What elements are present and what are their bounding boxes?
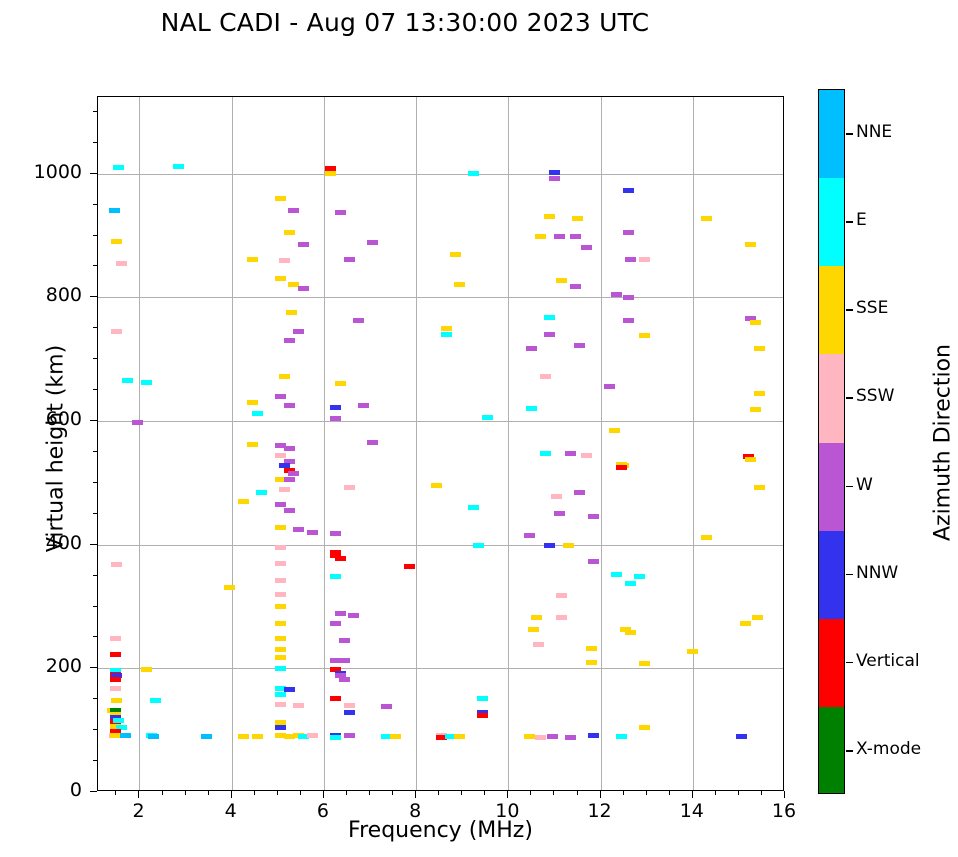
echo-mark: [275, 196, 286, 201]
figure-title: NAL CADI - Aug 07 13:30:00 2023 UTC: [0, 8, 810, 37]
gridline-horizontal: [98, 174, 783, 175]
echo-mark: [335, 381, 346, 386]
echo-mark: [533, 642, 544, 647]
echo-mark: [284, 338, 295, 343]
echo-mark: [330, 696, 341, 701]
echo-mark: [109, 208, 120, 213]
echo-mark: [454, 734, 465, 739]
colorbar-segment-sse: [819, 266, 844, 354]
echo-mark: [330, 416, 341, 421]
x-tick-minor: [185, 791, 186, 795]
x-tick-minor: [300, 791, 301, 795]
x-tick-major: [231, 791, 232, 798]
echo-mark: [275, 578, 286, 583]
echo-mark: [574, 343, 585, 348]
y-tick-minor: [93, 482, 97, 483]
colorbar-label-nnw: NNW: [856, 563, 898, 583]
echo-mark: [549, 170, 560, 175]
gridline-horizontal: [98, 297, 783, 298]
gridline-vertical: [232, 97, 233, 790]
echo-mark: [298, 242, 309, 247]
gridline-vertical: [693, 97, 694, 790]
echo-mark: [275, 647, 286, 652]
echo-mark: [275, 453, 286, 458]
echo-mark: [307, 530, 318, 535]
echo-mark: [298, 286, 309, 291]
echo-mark: [540, 374, 551, 379]
colorbar-tick: [846, 397, 853, 399]
echo-mark: [524, 734, 535, 739]
echo-mark: [586, 646, 597, 651]
echo-mark: [275, 655, 286, 660]
echo-mark: [293, 703, 304, 708]
x-tick-minor: [254, 791, 255, 795]
x-tick-minor: [392, 791, 393, 795]
echo-mark: [367, 440, 378, 445]
echo-mark: [113, 718, 124, 723]
echo-mark: [344, 710, 355, 715]
echo-mark: [275, 561, 286, 566]
echo-mark: [477, 696, 488, 701]
echo-mark: [551, 494, 562, 499]
colorbar-tick: [846, 574, 853, 576]
colorbar-tick: [846, 133, 853, 135]
echo-mark: [339, 658, 350, 663]
echo-mark: [687, 649, 698, 654]
echo-mark: [625, 630, 636, 635]
echo-mark: [110, 686, 121, 691]
gridline-horizontal: [98, 545, 783, 546]
y-tick-major: [90, 296, 97, 297]
gridline-horizontal: [98, 668, 783, 669]
echo-mark: [344, 257, 355, 262]
echo-mark: [390, 734, 401, 739]
echo-mark: [526, 346, 537, 351]
echo-mark: [279, 258, 290, 263]
echo-mark: [339, 638, 350, 643]
y-tick-minor: [93, 265, 97, 266]
echo-mark: [468, 505, 479, 510]
echo-mark: [348, 613, 359, 618]
y-tick-label: 0: [12, 779, 82, 801]
x-tick-major: [323, 791, 324, 798]
echo-mark: [639, 333, 650, 338]
echo-mark: [122, 378, 133, 383]
echo-mark: [441, 332, 452, 337]
echo-mark: [275, 592, 286, 597]
echo-mark: [381, 704, 392, 709]
gridline-vertical: [601, 97, 602, 790]
y-tick-minor: [93, 327, 97, 328]
x-tick-minor: [438, 791, 439, 795]
echo-mark: [524, 533, 535, 538]
y-tick-minor: [93, 575, 97, 576]
echo-mark: [609, 428, 620, 433]
y-tick-minor: [93, 389, 97, 390]
echo-mark: [556, 615, 567, 620]
colorbar-segment-e: [819, 178, 844, 266]
echo-mark: [335, 556, 346, 561]
echo-mark: [616, 465, 627, 470]
echo-mark: [565, 735, 576, 740]
echo-mark: [549, 176, 560, 181]
echo-mark: [574, 490, 585, 495]
echo-mark: [330, 531, 341, 536]
echo-mark: [275, 502, 286, 507]
echo-mark: [284, 403, 295, 408]
colorbar-label-e: E: [856, 210, 867, 230]
colorbar-label-x-mode: X-mode: [856, 739, 921, 759]
echo-mark: [468, 171, 479, 176]
y-tick-minor: [93, 636, 97, 637]
echo-mark: [275, 525, 286, 530]
echo-mark: [544, 214, 555, 219]
echo-mark: [556, 593, 567, 598]
echo-mark: [275, 604, 286, 609]
echo-mark: [344, 733, 355, 738]
echo-mark: [275, 636, 286, 641]
echo-mark: [284, 477, 295, 482]
colorbar-segment-x-mode: [819, 707, 844, 794]
echo-mark: [344, 485, 355, 490]
x-tick-minor: [553, 791, 554, 795]
y-tick-minor: [93, 358, 97, 359]
x-tick-minor: [208, 791, 209, 795]
echo-mark: [110, 677, 121, 682]
echo-mark: [544, 543, 555, 548]
echo-mark: [238, 734, 249, 739]
x-tick-minor: [530, 791, 531, 795]
y-tick-minor: [93, 235, 97, 236]
echo-mark: [275, 692, 286, 697]
echo-mark: [335, 611, 346, 616]
y-tick-minor: [93, 142, 97, 143]
echo-mark: [556, 278, 567, 283]
echo-mark: [330, 405, 341, 410]
echo-mark: [275, 666, 286, 671]
echo-mark: [238, 499, 249, 504]
echo-mark: [275, 621, 286, 626]
x-tick-minor: [484, 791, 485, 795]
colorbar-title: Azimuth Direction: [931, 293, 956, 593]
colorbar-tick: [846, 486, 853, 488]
echo-mark: [740, 621, 751, 626]
echo-mark: [554, 234, 565, 239]
echo-mark: [752, 615, 763, 620]
echo-mark: [750, 320, 761, 325]
colorbar-label-nne: NNE: [856, 122, 892, 142]
echo-mark: [148, 734, 159, 739]
x-tick-minor: [115, 791, 116, 795]
echo-mark: [482, 415, 493, 420]
echo-mark: [570, 284, 581, 289]
colorbar-tick: [846, 662, 853, 664]
plot-area: [97, 96, 784, 791]
echo-mark: [531, 615, 542, 620]
echo-mark: [701, 535, 712, 540]
ionogram-figure: NAL CADI - Aug 07 13:30:00 2023 UTC 2468…: [0, 0, 958, 857]
x-tick-minor: [577, 791, 578, 795]
echo-mark: [623, 295, 634, 300]
echo-mark: [325, 171, 336, 176]
x-tick-minor: [277, 791, 278, 795]
echo-mark: [111, 698, 122, 703]
echo-mark: [286, 310, 297, 315]
echo-mark: [611, 292, 622, 297]
echo-mark: [526, 406, 537, 411]
y-tick-label: 200: [12, 655, 82, 677]
echo-mark: [745, 457, 756, 462]
echo-mark: [547, 734, 558, 739]
echo-mark: [623, 188, 634, 193]
echo-mark: [284, 446, 295, 451]
x-tick-minor: [669, 791, 670, 795]
echo-mark: [431, 483, 442, 488]
x-tick-minor: [715, 791, 716, 795]
echo-mark: [570, 234, 581, 239]
echo-mark: [150, 698, 161, 703]
echo-mark: [116, 261, 127, 266]
echo-mark: [279, 487, 290, 492]
x-tick-minor: [761, 791, 762, 795]
echo-mark: [616, 734, 627, 739]
echo-mark: [454, 282, 465, 287]
echo-mark: [293, 527, 304, 532]
echo-mark: [754, 391, 765, 396]
colorbar-label-w: W: [856, 475, 873, 495]
echo-mark: [625, 257, 636, 262]
x-tick-minor: [738, 791, 739, 795]
x-tick-major: [784, 791, 785, 798]
y-tick-minor: [93, 760, 97, 761]
echo-mark: [625, 581, 636, 586]
x-tick-minor: [461, 791, 462, 795]
x-tick-major: [507, 791, 508, 798]
echo-mark: [120, 733, 131, 738]
x-tick-minor: [162, 791, 163, 795]
colorbar-segment-nnw: [819, 531, 844, 619]
echo-mark: [544, 315, 555, 320]
echo-mark: [754, 485, 765, 490]
echo-mark: [565, 451, 576, 456]
echo-mark: [247, 442, 258, 447]
echo-mark: [335, 210, 346, 215]
y-axis-title: Virtual height (km): [44, 299, 69, 599]
gridline-vertical: [508, 97, 509, 790]
echo-mark: [132, 420, 143, 425]
gridline-vertical: [416, 97, 417, 790]
echo-mark: [284, 230, 295, 235]
echo-mark: [450, 252, 461, 257]
echo-mark: [353, 318, 364, 323]
x-tick-minor: [646, 791, 647, 795]
echo-mark: [544, 332, 555, 337]
echo-mark: [247, 400, 258, 405]
echo-mark: [275, 725, 286, 730]
echo-mark: [288, 208, 299, 213]
echo-mark: [141, 667, 152, 672]
gridline-vertical: [139, 97, 140, 790]
x-tick-minor: [346, 791, 347, 795]
echo-mark: [604, 384, 615, 389]
y-tick-minor: [93, 729, 97, 730]
echo-mark: [284, 508, 295, 513]
gridline-vertical: [324, 97, 325, 790]
plot-canvas: [98, 97, 783, 790]
echo-mark: [201, 734, 212, 739]
echo-mark: [441, 326, 452, 331]
echo-mark: [639, 725, 650, 730]
echo-mark: [275, 702, 286, 707]
echo-mark: [173, 164, 184, 169]
colorbar-label-ssw: SSW: [856, 386, 894, 406]
echo-mark: [623, 230, 634, 235]
echo-mark: [736, 734, 747, 739]
colorbar-label-sse: SSE: [856, 298, 888, 318]
y-tick-major: [90, 173, 97, 174]
echo-mark: [701, 216, 712, 221]
x-tick-major: [415, 791, 416, 798]
echo-mark: [330, 574, 341, 579]
echo-mark: [141, 380, 152, 385]
echo-mark: [344, 703, 355, 708]
echo-mark: [307, 733, 318, 738]
echo-mark: [256, 490, 267, 495]
colorbar-label-vertical: Vertical: [856, 651, 920, 671]
gridline-horizontal: [98, 421, 783, 422]
echo-mark: [252, 734, 263, 739]
y-tick-minor: [93, 204, 97, 205]
echo-mark: [586, 660, 597, 665]
echo-mark: [623, 318, 634, 323]
echo-mark: [588, 559, 599, 564]
echo-mark: [473, 543, 484, 548]
echo-mark: [111, 329, 122, 334]
echo-mark: [611, 572, 622, 577]
echo-mark: [535, 234, 546, 239]
echo-mark: [367, 240, 378, 245]
colorbar-tick: [846, 221, 853, 223]
echo-mark: [754, 346, 765, 351]
echo-mark: [275, 394, 286, 399]
colorbar-tick: [846, 750, 853, 752]
echo-mark: [110, 636, 121, 641]
echo-mark: [293, 329, 304, 334]
echo-mark: [563, 543, 574, 548]
y-tick-minor: [93, 111, 97, 112]
y-tick-minor: [93, 451, 97, 452]
echo-mark: [275, 276, 286, 281]
colorbar: [818, 89, 845, 794]
echo-mark: [275, 545, 286, 550]
echo-mark: [572, 216, 583, 221]
echo-mark: [581, 453, 592, 458]
echo-mark: [535, 735, 546, 740]
y-tick-label: 1000: [12, 161, 82, 183]
echo-mark: [540, 451, 551, 456]
echo-mark: [528, 627, 539, 632]
echo-mark: [247, 257, 258, 262]
echo-mark: [111, 239, 122, 244]
echo-mark: [588, 514, 599, 519]
y-tick-major: [90, 544, 97, 545]
x-tick-major: [600, 791, 601, 798]
x-tick-major: [692, 791, 693, 798]
echo-mark: [554, 511, 565, 516]
echo-mark: [110, 652, 121, 657]
echo-mark: [404, 564, 415, 569]
echo-mark: [113, 165, 124, 170]
echo-mark: [639, 257, 650, 262]
echo-mark: [279, 374, 290, 379]
y-tick-major: [90, 791, 97, 792]
x-axis-title: Frequency (MHz): [97, 818, 784, 843]
y-tick-major: [90, 667, 97, 668]
echo-mark: [745, 242, 756, 247]
echo-mark: [288, 471, 299, 476]
echo-mark: [330, 735, 341, 740]
echo-mark: [224, 585, 235, 590]
echo-mark: [581, 245, 592, 250]
y-tick-major: [90, 420, 97, 421]
colorbar-segment-w: [819, 443, 844, 531]
colorbar-segment-ssw: [819, 354, 844, 442]
x-tick-minor: [369, 791, 370, 795]
colorbar-segment-vertical: [819, 619, 844, 707]
echo-mark: [588, 733, 599, 738]
y-tick-minor: [93, 606, 97, 607]
echo-mark: [111, 562, 122, 567]
x-tick-major: [138, 791, 139, 798]
y-tick-minor: [93, 698, 97, 699]
colorbar-tick: [846, 309, 853, 311]
y-tick-minor: [93, 513, 97, 514]
echo-mark: [252, 411, 263, 416]
echo-mark: [330, 621, 341, 626]
colorbar-segment-nne: [819, 90, 844, 178]
echo-mark: [639, 661, 650, 666]
echo-mark: [477, 713, 488, 718]
echo-mark: [358, 403, 369, 408]
echo-mark: [634, 574, 645, 579]
x-tick-minor: [623, 791, 624, 795]
echo-mark: [750, 407, 761, 412]
echo-mark: [339, 677, 350, 682]
